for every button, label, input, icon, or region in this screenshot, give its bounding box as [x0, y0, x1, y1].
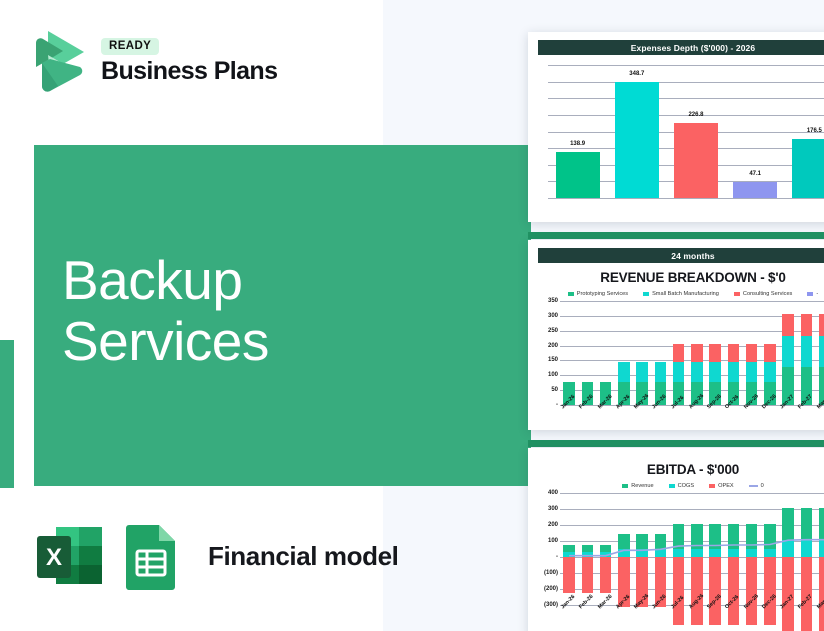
chart-title-ebitda: EBITDA - $'000: [528, 462, 824, 477]
legend-label: Revenue: [631, 483, 653, 489]
bar-segment: [636, 362, 647, 383]
green-accent-bar-bottom: [528, 440, 824, 447]
legend-swatch: [749, 485, 758, 487]
bar-column: [688, 301, 706, 405]
legend-item: Consulting Services: [734, 291, 792, 297]
bar-segment: [782, 336, 793, 367]
chart-header-bar-24-months: 24 months: [538, 248, 824, 263]
bar-segment: [618, 362, 629, 383]
svg-text:X: X: [46, 544, 62, 571]
legend-swatch: [709, 484, 715, 488]
bar-value-label: 226.8: [688, 112, 703, 118]
axis-tick-label: 300: [534, 313, 558, 319]
gridline: [548, 198, 824, 199]
chart-plot-ebitda: 400300200100-(100)(200)(300): [534, 493, 824, 605]
legend-swatch: [734, 292, 740, 296]
bar-column: [761, 301, 779, 405]
legend-label: -: [816, 291, 818, 297]
axis-tick-label: 350: [534, 298, 558, 304]
chart-xaxis-ebitda: Jan-26Feb-26Mar-26Apr-26May-26Jun-26Jul-…: [534, 606, 824, 631]
legend-label: 0: [761, 483, 764, 489]
bar: 47.1: [733, 182, 777, 198]
bar-value-label: 348.7: [629, 71, 644, 77]
google-sheets-icon[interactable]: [121, 521, 187, 591]
bar-segment: [819, 314, 824, 335]
bar-column: [797, 301, 815, 405]
bar: 348.7: [615, 82, 659, 198]
play-triangle-logo-icon: [28, 27, 88, 95]
bar-segment: [691, 362, 702, 383]
chart-plot-expenses: 138.9348.7226.847.1176.5: [534, 59, 824, 204]
bar-value-label: 47.1: [749, 171, 761, 177]
axis-tick-label: -: [534, 554, 558, 560]
axis-tick-label: 200: [534, 522, 558, 528]
legend-item: COGS: [669, 483, 694, 489]
chart-legend-revenue: Prototyping ServicesSmall Batch Manufact…: [528, 291, 824, 297]
bar-column: [706, 301, 724, 405]
legend-item: -: [807, 291, 818, 297]
bar-column: [615, 301, 633, 405]
hero-edge-accent: [0, 340, 14, 488]
chart-card-revenue-breakdown: 24 months REVENUE BREAKDOWN - $'0 Protot…: [528, 240, 824, 430]
bar-segment: [819, 336, 824, 367]
chart-title-revenue: REVENUE BREAKDOWN - $'0: [528, 270, 824, 285]
bar-column: [743, 301, 761, 405]
chart-card-ebitda: EBITDA - $'000 RevenueCOGSOPEX0 40030020…: [528, 448, 824, 631]
brand-text-block: READY Business Plans: [101, 38, 277, 85]
legend-item: Revenue: [622, 483, 653, 489]
legend-label: Consulting Services: [743, 291, 792, 297]
legend-item: Small Batch Manufacturing: [643, 291, 719, 297]
brand-lockup: READY Business Plans: [28, 27, 277, 95]
axis-tick-label: 100: [534, 538, 558, 544]
axis-tick-label: 250: [534, 328, 558, 334]
axis-tick-label: 300: [534, 506, 558, 512]
legend-label: COGS: [678, 483, 694, 489]
page-title: Backup Services: [62, 250, 511, 371]
bar-value-label: 138.9: [570, 141, 585, 147]
axis-tick-label: 150: [534, 357, 558, 363]
bar-segment: [801, 314, 812, 335]
chart-header-bar-expenses: Expenses Depth ($'000) - 2026: [538, 40, 824, 55]
bar-segment: [709, 344, 720, 362]
legend-label: Small Batch Manufacturing: [652, 291, 719, 297]
bar-segment: [728, 344, 739, 362]
bar-segment: [691, 344, 702, 362]
bar-segment: [673, 344, 684, 362]
chart-legend-ebitda: RevenueCOGSOPEX0: [528, 483, 824, 489]
bar-column: [633, 301, 651, 405]
legend-swatch: [643, 292, 649, 296]
footer-formats: X Financial model: [34, 521, 399, 591]
bar-segment: [764, 344, 775, 362]
legend-label: OPEX: [718, 483, 734, 489]
chart-yaxis-revenue: 35030025020015010050-: [534, 301, 560, 405]
green-accent-bar-top: [528, 232, 824, 239]
bar-column: [670, 301, 688, 405]
chart-card-expenses-depth: Expenses Depth ($'000) - 2026 138.9348.7…: [528, 32, 824, 222]
bar-segment: [655, 362, 666, 383]
legend-swatch: [669, 484, 675, 488]
hero-panel: Backup Services: [34, 145, 531, 486]
bar-segment: [709, 362, 720, 383]
bar-segment: [673, 362, 684, 383]
slide-canvas: READY Business Plans Backup Services X: [0, 0, 824, 631]
bar-column: [816, 301, 824, 405]
axis-tick-label: (200): [534, 586, 558, 592]
microsoft-excel-icon[interactable]: X: [34, 521, 104, 591]
bar: 176.5: [792, 139, 824, 198]
footer-label: Financial model: [208, 541, 399, 572]
axis-tick-label: (100): [534, 570, 558, 576]
chart-plot-revenue: 35030025020015010050-: [534, 301, 824, 405]
legend-item: OPEX: [709, 483, 734, 489]
bar-segment: [728, 362, 739, 383]
legend-item: Prototyping Services: [568, 291, 628, 297]
bar-value-label: 176.5: [807, 128, 822, 134]
axis-tick-label: 400: [534, 490, 558, 496]
bar-column: [651, 301, 669, 405]
bar-column: [560, 301, 578, 405]
bar-segment: [746, 344, 757, 362]
ready-badge: READY: [101, 38, 159, 56]
bar-column: [779, 301, 797, 405]
bar: 138.9: [556, 152, 600, 198]
bar-segment: [782, 314, 793, 335]
axis-tick-label: 200: [534, 343, 558, 349]
brand-name: Business Plans: [101, 59, 277, 84]
chart-yaxis-ebitda: 400300200100-(100)(200)(300): [534, 493, 560, 605]
legend-label: Prototyping Services: [577, 291, 628, 297]
axis-tick-label: 50: [534, 387, 558, 393]
bar-column: [597, 301, 615, 405]
bar-segment: [746, 362, 757, 383]
legend-item: 0: [749, 483, 764, 489]
bar-segment: [764, 362, 775, 383]
bar-column: [578, 301, 596, 405]
chart-bars-revenue: [560, 301, 824, 405]
bar-segment: [801, 336, 812, 367]
legend-swatch: [622, 484, 628, 488]
bar-column: [724, 301, 742, 405]
line-series: [569, 540, 824, 556]
chart-zero-line-series: [560, 493, 824, 605]
legend-swatch: [807, 292, 813, 296]
legend-swatch: [568, 292, 574, 296]
bar: 226.8: [674, 123, 718, 198]
axis-tick-label: 100: [534, 372, 558, 378]
chart-bars-expenses: 138.9348.7226.847.1176.5: [548, 65, 824, 198]
chart-xaxis-revenue: Jan-26Feb-26Mar-26Apr-26May-26Jun-26Jul-…: [534, 406, 824, 430]
